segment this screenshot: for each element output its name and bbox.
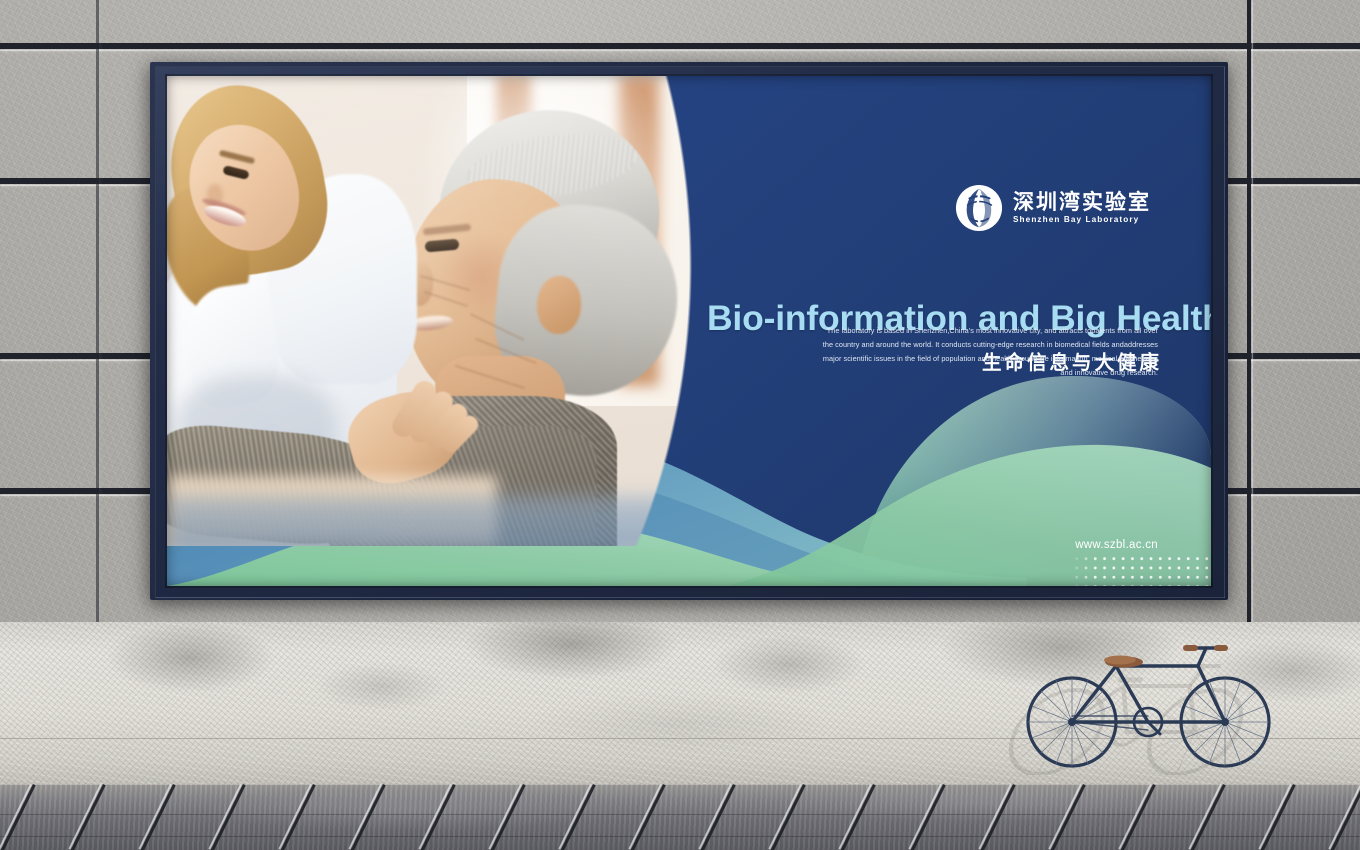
bicycle-crank: [1148, 722, 1160, 734]
wall-joint-vertical: [1247, 0, 1251, 622]
bicycle-grip: [1214, 645, 1228, 651]
photo-region: [167, 76, 727, 546]
billboard-mockup-scene: (function(){ var g=document.querySelecto…: [0, 0, 1360, 850]
bicycle-saddle-top: [1104, 656, 1136, 665]
shenzhen-bay-lab-emblem-icon: [955, 184, 1003, 232]
wall-joint-vertical: [96, 0, 99, 622]
logo-block[interactable]: 深圳湾实验室 Shenzhen Bay Laboratory: [955, 184, 1151, 232]
ground-texture: [0, 784, 1360, 850]
ground-seam: [0, 836, 1360, 837]
poster-artwork[interactable]: 深圳湾实验室 Shenzhen Bay Laboratory Bio-infor…: [167, 76, 1211, 586]
bicycle-seattube: [1116, 666, 1148, 722]
logo-english-name: Shenzhen Bay Laboratory: [1013, 216, 1151, 224]
caregiver-photo: [167, 76, 727, 546]
dot-grid-pattern: [1072, 554, 1211, 586]
ground-edge-highlight: [0, 784, 1360, 785]
logo-chinese-name: 深圳湾实验室: [1013, 192, 1151, 213]
bicycle-grip: [1183, 645, 1198, 651]
wall-joint-horizontal: [0, 43, 1360, 49]
paved-ground: [0, 784, 1360, 850]
ground-seam: [0, 814, 1360, 815]
poster-body-text: The laboratory is based in Shenzhen,Chin…: [818, 324, 1158, 380]
vintage-bicycle: [1020, 630, 1290, 770]
wall-joint-highlight: [0, 50, 1360, 51]
wall-joint-vertical-highlight: [1252, 0, 1253, 622]
photo-soft-light: [167, 76, 727, 546]
bicycle-stem: [1198, 648, 1206, 666]
bicycle-frame-top: [1072, 666, 1225, 722]
poster-website-url[interactable]: www.szbl.ac.cn: [867, 539, 1158, 551]
logo-text: 深圳湾实验室 Shenzhen Bay Laboratory: [1013, 192, 1151, 224]
